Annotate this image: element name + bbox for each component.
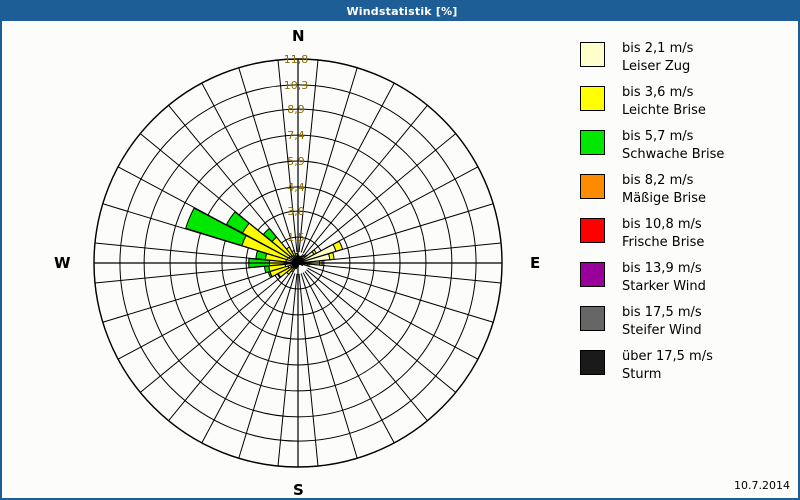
legend-label: bis 2,1 m/sLeiser Zug [622,40,693,77]
legend-label: bis 5,7 m/sSchwache Brise [622,128,724,165]
legend-speed: bis 5,7 m/s [622,128,724,146]
legend-swatch [580,130,605,155]
legend-swatch [580,86,605,111]
legend-swatch [580,306,605,331]
grid-spoke [309,264,501,283]
grid-spoke [118,268,288,359]
petal-segment [295,254,297,257]
windrose-window: Windstatistik [%] 1,53,04,45,97,48,910,3… [0,0,800,500]
legend-name: Mäßige Brise [622,190,706,208]
legend-item[interactable]: bis 10,8 m/sFrische Brise [580,216,795,255]
radial-tick-label: 7,4 [287,129,305,142]
petal-segment [264,266,269,273]
legend-speed: bis 13,9 m/s [622,260,706,278]
legend-label: bis 3,6 m/sLeichte Brise [622,84,706,121]
legend-swatch [580,262,605,287]
legend: bis 2,1 m/sLeiser Zugbis 3,6 m/sLeichte … [580,40,795,392]
legend-item[interactable]: bis 2,1 m/sLeiser Zug [580,40,795,79]
windrose-plot: 1,53,04,45,97,48,910,311,8 N E S W [2,21,570,500]
compass-label-west: W [54,254,71,272]
legend-speed: bis 2,1 m/s [622,40,693,58]
radial-tick-label: 10,3 [284,79,309,92]
grid-spoke [299,274,318,466]
legend-swatch [580,350,605,375]
polar-axes [94,59,502,467]
legend-name: Steifer Wind [622,322,702,340]
grid-spoke [303,83,394,253]
radial-tick-label: 4,4 [287,181,305,194]
legend-name: Schwache Brise [622,146,724,164]
legend-label: bis 8,2 m/sMäßige Brise [622,172,706,209]
legend-speed: bis 8,2 m/s [622,172,706,190]
date-stamp: 10.7.2014 [734,479,790,492]
legend-speed: bis 17,5 m/s [622,304,702,322]
legend-speed: über 17,5 m/s [622,348,713,366]
legend-label: über 17,5 m/sSturm [622,348,713,385]
radial-tick-labels: 1,53,04,45,97,48,910,311,8 [284,53,309,244]
windrose-svg: 1,53,04,45,97,48,910,311,8 [2,21,570,500]
grid-spoke [308,268,478,359]
legend-swatch [580,218,605,243]
grid-spoke [303,273,394,443]
legend-item[interactable]: bis 8,2 m/sMäßige Brise [580,172,795,211]
grid-spoke [202,273,293,443]
radial-tick-label: 8,9 [287,103,305,116]
legend-label: bis 13,9 m/sStarker Wind [622,260,706,297]
window-titlebar: Windstatistik [%] [2,2,800,21]
legend-name: Starker Wind [622,278,706,296]
petal-segment [329,253,334,260]
legend-swatch [580,42,605,67]
radial-tick-label: 3,0 [287,205,305,218]
legend-name: Sturm [622,366,713,384]
legend-item[interactable]: bis 17,5 m/sSteifer Wind [580,304,795,343]
compass-label-north: N [292,27,305,45]
grid-spoke [278,274,297,466]
legend-speed: bis 3,6 m/s [622,84,706,102]
legend-item[interactable]: über 17,5 m/sSturm [580,348,795,387]
legend-label: bis 17,5 m/sSteifer Wind [622,304,702,341]
petal-segment [307,264,309,266]
legend-item[interactable]: bis 3,6 m/sLeichte Brise [580,84,795,123]
compass-label-south: S [293,481,304,499]
legend-swatch [580,174,605,199]
legend-name: Frische Brise [622,234,704,252]
legend-name: Leichte Brise [622,102,706,120]
petal-segment [302,264,303,265]
radial-tick-label: 5,9 [287,155,305,168]
compass-label-east: E [530,254,540,272]
radial-tick-label: 1,5 [287,231,305,244]
radial-tick-label: 11,8 [284,53,309,66]
window-title: Windstatistik [%] [346,5,457,18]
legend-speed: bis 10,8 m/s [622,216,704,234]
petal-layer [186,208,343,277]
legend-name: Leiser Zug [622,58,693,76]
legend-item[interactable]: bis 13,9 m/sStarker Wind [580,260,795,299]
legend-item[interactable]: bis 5,7 m/sSchwache Brise [580,128,795,167]
legend-label: bis 10,8 m/sFrische Brise [622,216,704,253]
